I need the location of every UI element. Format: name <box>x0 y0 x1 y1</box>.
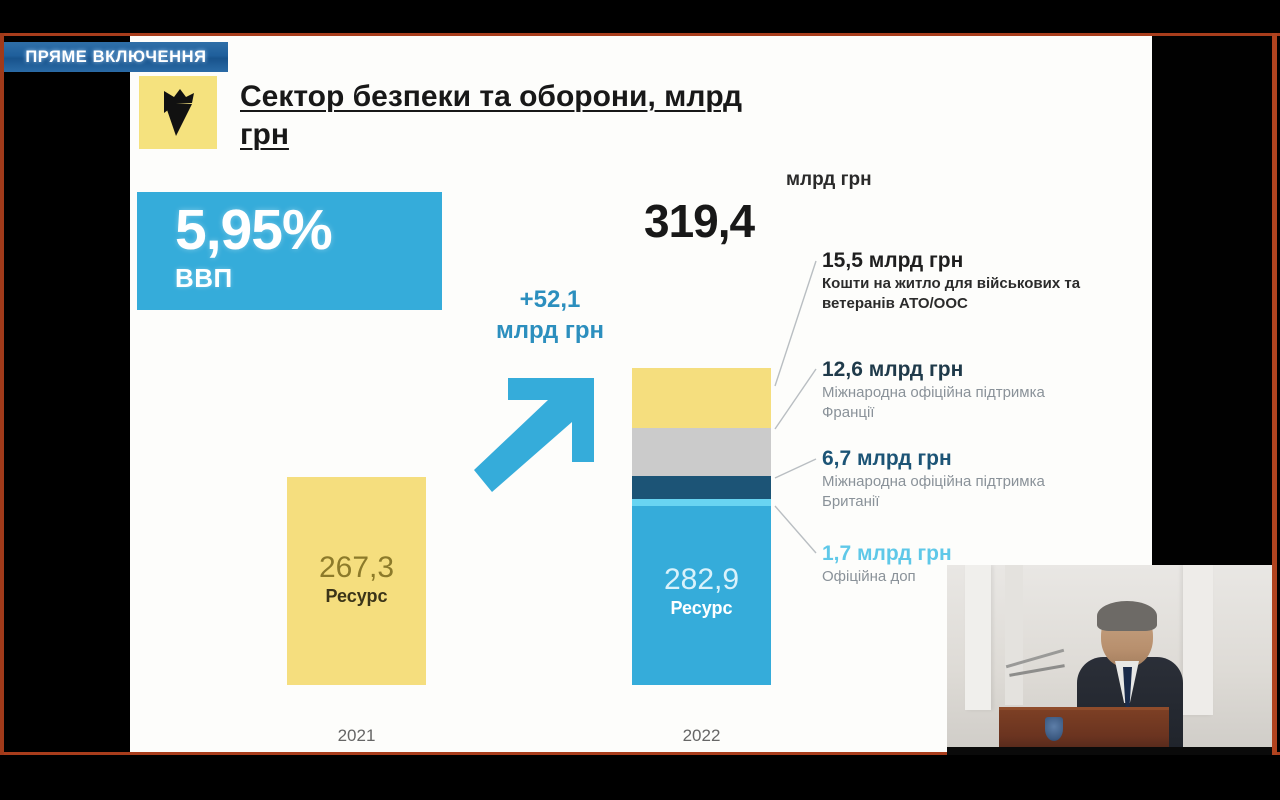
total-value: 319,4 <box>644 194 754 248</box>
speaker-hair <box>1097 601 1157 631</box>
delta-label: +52,1 млрд грн <box>460 284 640 346</box>
pip-pillar <box>1183 565 1213 715</box>
bar-segment-france <box>632 428 771 476</box>
bar-2021-label: Ресурс <box>287 586 426 607</box>
callout-britain-desc: Міжнародна офіційна підтримка Британії <box>822 472 1092 511</box>
ukraine-trident-flag-icon <box>139 76 217 149</box>
page-title: Сектор безпеки та оборони, млрд грн <box>240 78 760 154</box>
podium-crest-icon <box>1045 717 1063 741</box>
bar-2022-value: 282,9 <box>632 564 771 596</box>
callout-housing-value: 15,5 млрд грн <box>822 248 1092 273</box>
live-broadcast-badge: ПРЯМЕ ВКЛЮЧЕННЯ <box>4 42 228 72</box>
bar-2021: 267,3 Ресурс <box>287 477 426 685</box>
bar-segment-official <box>632 499 771 506</box>
bar-segment-housing <box>632 368 771 428</box>
callout-france-desc: Міжнародна офіційна підтримка Франції <box>822 383 1092 422</box>
letterbox-bottom <box>0 755 1280 800</box>
broadcast-frame-left <box>0 33 4 755</box>
gdp-share-value: 5,95% <box>175 202 442 259</box>
live-broadcast-label: ПРЯМЕ ВКЛЮЧЕННЯ <box>25 48 206 67</box>
axis-label-2022: 2022 <box>632 726 771 746</box>
axis-label-2021: 2021 <box>287 726 426 746</box>
bar-2022: 282,9 Ресурс <box>632 368 771 685</box>
bar-segment-britain <box>632 476 771 499</box>
delta-value: +52,1 <box>520 286 581 313</box>
broadcast-screen: Сектор безпеки та оборони, млрд грн 5,95… <box>0 0 1280 800</box>
arrow-up-right-icon <box>468 366 598 496</box>
letterbox-top <box>0 0 1280 33</box>
callout-britain-value: 6,7 млрд грн <box>822 446 1092 471</box>
black-margin-left <box>4 36 130 752</box>
pip-pillar <box>1005 565 1023 705</box>
pip-bottom-band <box>947 747 1272 755</box>
bar-2022-label: Ресурс <box>632 598 771 619</box>
callout-britain: 6,7 млрд грн Міжнародна офіційна підтрим… <box>822 446 1092 511</box>
callout-housing: 15,5 млрд грн Кошти на житло для військо… <box>822 248 1092 313</box>
callout-france-value: 12,6 млрд грн <box>822 357 1092 382</box>
pip-pillar <box>965 565 991 710</box>
bar-2021-value: 267,3 <box>287 552 426 584</box>
delta-unit: млрд грн <box>496 317 604 344</box>
callout-housing-desc: Кошти на житло для військових та ветеран… <box>822 274 1092 313</box>
gdp-share-label: ВВП <box>175 263 442 294</box>
broadcast-frame-right <box>1272 33 1277 755</box>
callout-france: 12,6 млрд грн Міжнародна офіційна підтри… <box>822 357 1092 422</box>
speaker-video-overlay[interactable] <box>947 565 1272 755</box>
total-unit: млрд грн <box>786 168 896 192</box>
gdp-share-box: 5,95% ВВП <box>137 192 442 310</box>
callout-official-value: 1,7 млрд грн <box>822 541 1092 566</box>
